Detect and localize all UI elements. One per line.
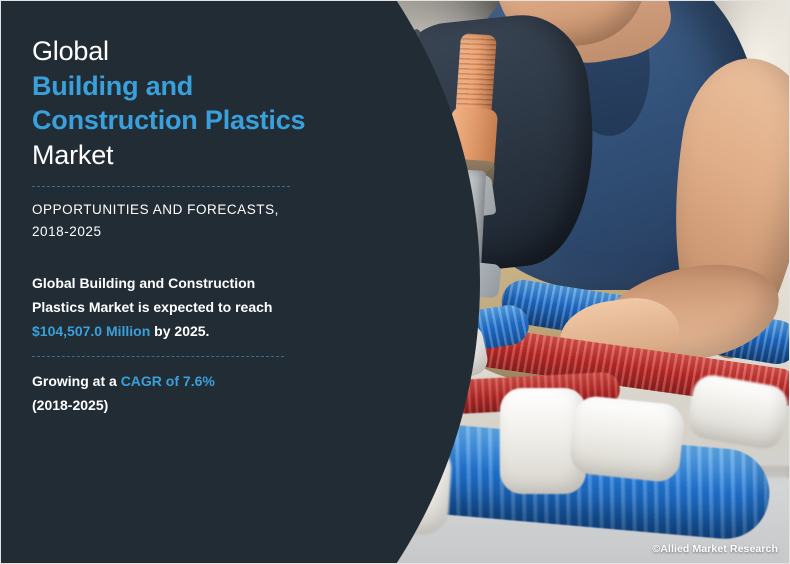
stat-prefix: Global Building and Construction Plastic…	[32, 275, 272, 315]
cagr-value: CAGR of 7.6%	[121, 373, 215, 389]
cagr-statement: Growing at a CAGR of 7.6% (2018-2025)	[32, 370, 304, 417]
subtitle: OPPORTUNITIES AND FORECASTS, 2018-2025	[32, 199, 312, 243]
subtitle-line-1: OPPORTUNITIES AND FORECASTS,	[32, 199, 312, 221]
divider-1	[32, 186, 290, 187]
title-line-1: Global	[32, 34, 420, 69]
cagr-period: (2018-2025)	[32, 394, 304, 418]
market-value-statement: Global Building and Construction Plastic…	[32, 271, 304, 343]
copyright-credit: ©Allied Market Research	[652, 543, 778, 555]
title-line-2: Building and	[32, 69, 420, 104]
pvc-fitting-2	[568, 394, 686, 483]
banner-content: Global Building and Construction Plastic…	[0, 0, 420, 564]
market-report-banner: Global Building and Construction Plastic…	[0, 0, 790, 564]
divider-2	[32, 356, 284, 357]
stat-suffix: by 2025.	[150, 323, 209, 339]
title-line-3: Construction Plastics	[32, 103, 420, 138]
title-line-4: Market	[32, 138, 420, 173]
stat-value: $104,507.0 Million	[32, 323, 150, 339]
subtitle-line-2: 2018-2025	[32, 221, 312, 243]
page-title: Global Building and Construction Plastic…	[32, 34, 420, 172]
cagr-prefix: Growing at a	[32, 373, 121, 389]
